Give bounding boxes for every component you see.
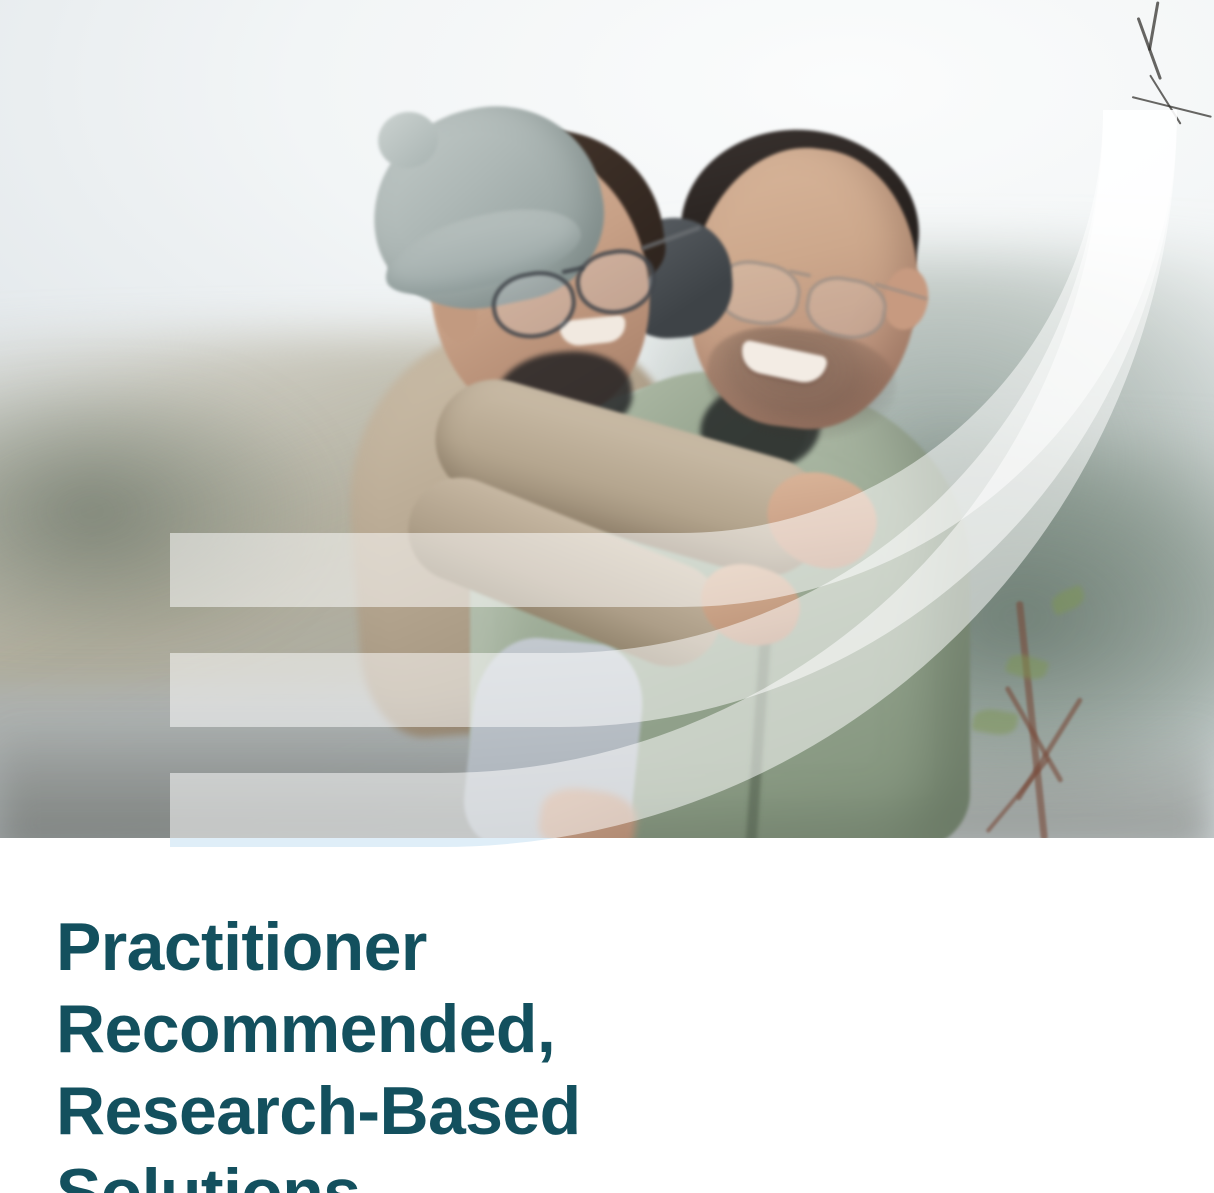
photo-left-dark-trees — [0, 385, 340, 636]
photo-sapling — [955, 560, 1205, 838]
hero-photo — [0, 0, 1214, 838]
headline-panel: Practitioner Recommended, Research-Based… — [0, 838, 1214, 1193]
page-title: Practitioner Recommended, Research-Based… — [56, 906, 716, 1193]
promo-poster: Practitioner Recommended, Research-Based… — [0, 0, 1214, 1193]
